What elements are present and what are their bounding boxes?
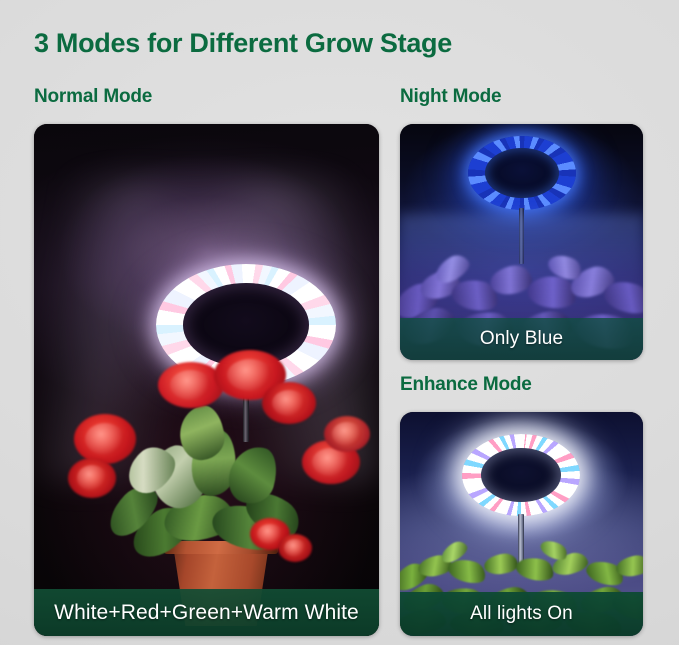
leaf [483,552,519,575]
red-flower [262,382,316,424]
leaf [514,554,556,583]
ring-center-hole [485,148,559,198]
red-flower [324,416,370,452]
caption-enhance: All lights On [400,592,643,636]
ring-center-hole [481,448,561,502]
mode-heading-night: Night Mode [400,86,501,108]
mode-panel-enhance: All lights On [400,412,643,636]
caption-normal: White+Red+Green+Warm White [34,589,379,636]
ring-grow-light-night [468,136,576,210]
ring-grow-light-enhance [462,434,580,516]
product-feature-graphic: 3 Modes for Different Grow Stage Normal … [0,0,679,645]
mode-heading-enhance: Enhance Mode [400,374,532,396]
mode-panel-normal: White+Red+Green+Warm White [34,124,379,636]
red-flower [278,534,312,562]
red-flower [68,458,116,498]
page-title: 3 Modes for Different Grow Stage [34,28,452,59]
mode-panel-night: Only Blue [400,124,643,360]
red-flower [74,414,136,464]
caption-night: Only Blue [400,318,643,360]
mode-heading-normal: Normal Mode [34,86,152,108]
scene-normal [34,124,379,636]
